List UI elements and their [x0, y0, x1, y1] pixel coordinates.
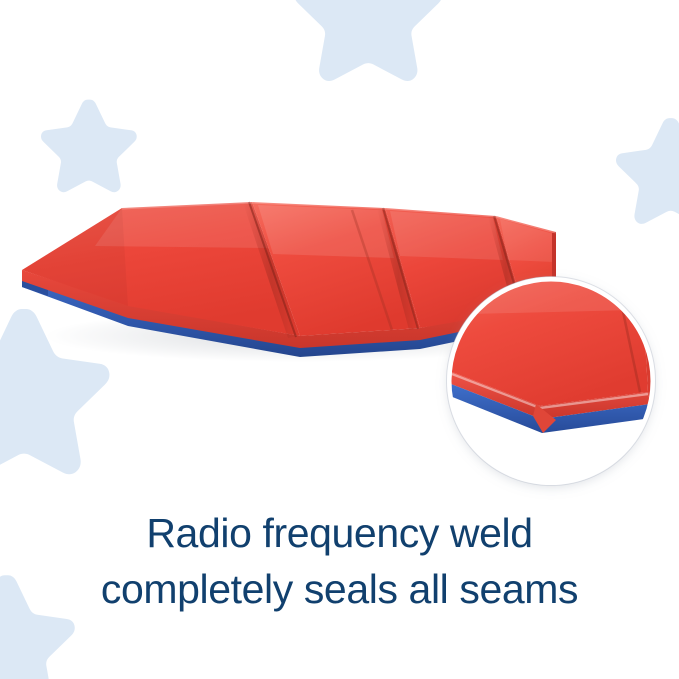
product-feature-card: Radio frequency weld completely seals al… — [0, 0, 679, 679]
caption-line-2: completely seals all seams — [0, 561, 679, 617]
feature-caption: Radio frequency weld completely seals al… — [0, 505, 679, 617]
caption-line-1: Radio frequency weld — [0, 505, 679, 561]
zoom-mat-top-surface — [452, 250, 648, 406]
